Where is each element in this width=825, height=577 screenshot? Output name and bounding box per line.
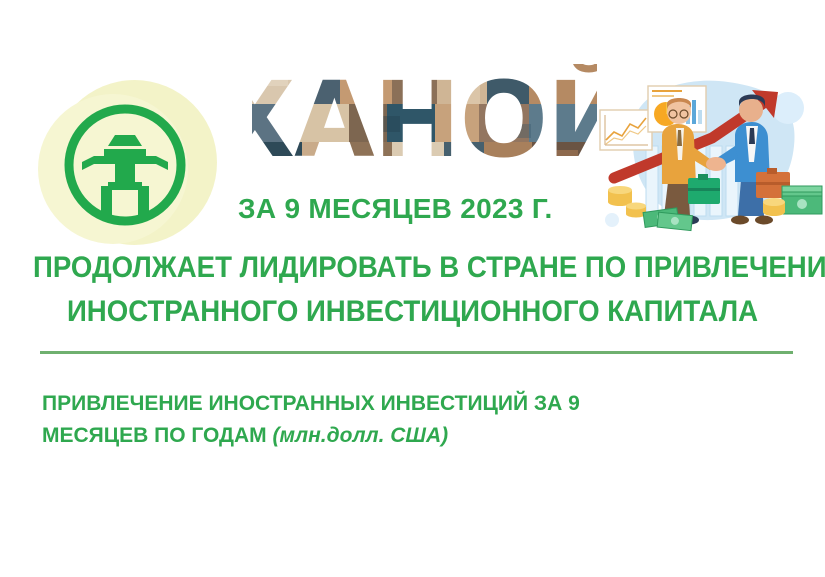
section-divider	[40, 351, 793, 354]
chart-title-line-2: МЕСЯЦЕВ ПО ГОДАМ (млн.долл. США)	[42, 420, 662, 452]
chart-title-block: ПРИВЛЕЧЕНИЕ ИНОСТРАННЫХ ИНВЕСТИЦИЙ ЗА 9 …	[42, 388, 662, 452]
page-headline: ПРОДОЛЖАЕТ ЛИДИРОВАТЬ В СТРАНЕ ПО ПРИВЛЕ…	[0, 246, 825, 334]
chart-title-main: МЕСЯЦЕВ ПО ГОДАМ	[42, 424, 267, 447]
headline-line-2: ИНОСТРАННОГО ИНВЕСТИЦИОННОГО КАПИТАЛА	[33, 290, 792, 334]
headline-line-1: ПРОДОЛЖАЕТ ЛИДИРОВАТЬ В СТРАНЕ ПО ПРИВЛЕ…	[33, 246, 792, 290]
infographic-page: ХАНОЙ	[0, 0, 825, 577]
hanoi-wordmark: ХАНОЙ	[252, 64, 597, 179]
hanoi-logo	[38, 72, 228, 257]
handshake	[706, 157, 726, 171]
chart-plot-area	[0, 470, 825, 577]
kicker-period-label: ЗА 9 МЕСЯЦЕВ 2023 Г.	[238, 193, 553, 225]
chart-title-unit: (млн.долл. США)	[273, 424, 449, 447]
hanoi-wordmark-text: ХАНОЙ	[252, 64, 597, 179]
chart-title-line-1: ПРИВЛЕЧЕНИЕ ИНОСТРАННЫХ ИНВЕСТИЦИЙ ЗА 9	[42, 388, 662, 420]
khue-van-cac-icon	[60, 100, 190, 230]
line-chart-card	[600, 110, 652, 150]
business-handshake-illustration	[592, 68, 825, 250]
